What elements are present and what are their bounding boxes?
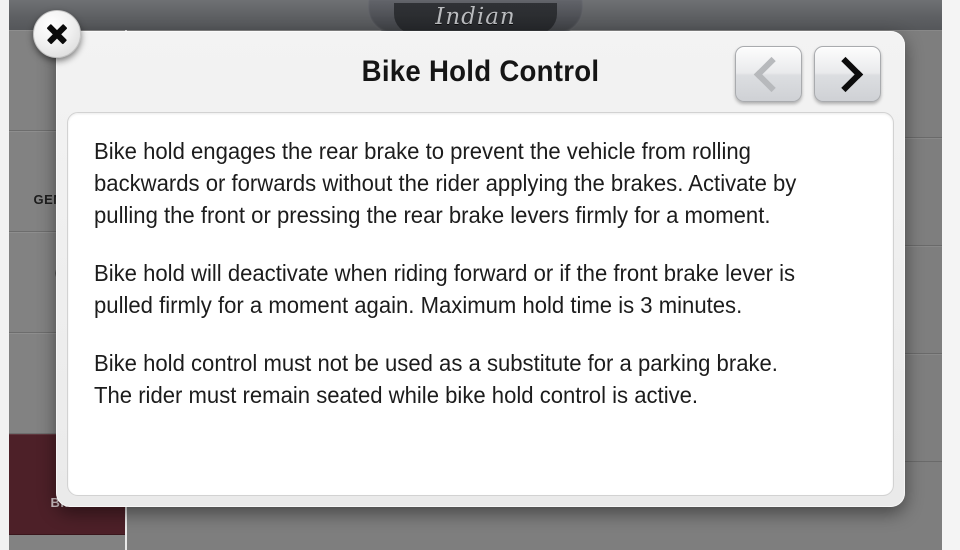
dialog-nav-group [735,46,881,102]
left-edge-strip [0,0,9,550]
brand-badge: Indian [368,0,583,34]
body-paragraph-2: Bike hold will deactivate when riding fo… [94,257,821,321]
body-paragraph-1: Bike hold engages the rear brake to prev… [94,135,821,231]
help-dialog: Bike Hold Control Bike hold engages the … [56,31,905,507]
chevron-left-icon [753,56,788,91]
right-edge-strip [942,0,960,550]
dialog-content-panel: Bike hold engages the rear brake to prev… [67,112,894,496]
next-button[interactable] [814,46,881,102]
body-paragraph-3: Bike hold control must not be used as a … [94,347,821,411]
close-button[interactable] [33,10,81,58]
chevron-right-icon [827,56,862,91]
screen-root: Indian ◖ ☰ GENERAL ◎ T ● A ⚙ BIKE [0,0,960,550]
previous-button[interactable] [735,46,802,102]
brand-logo-text: Indian [394,4,557,30]
